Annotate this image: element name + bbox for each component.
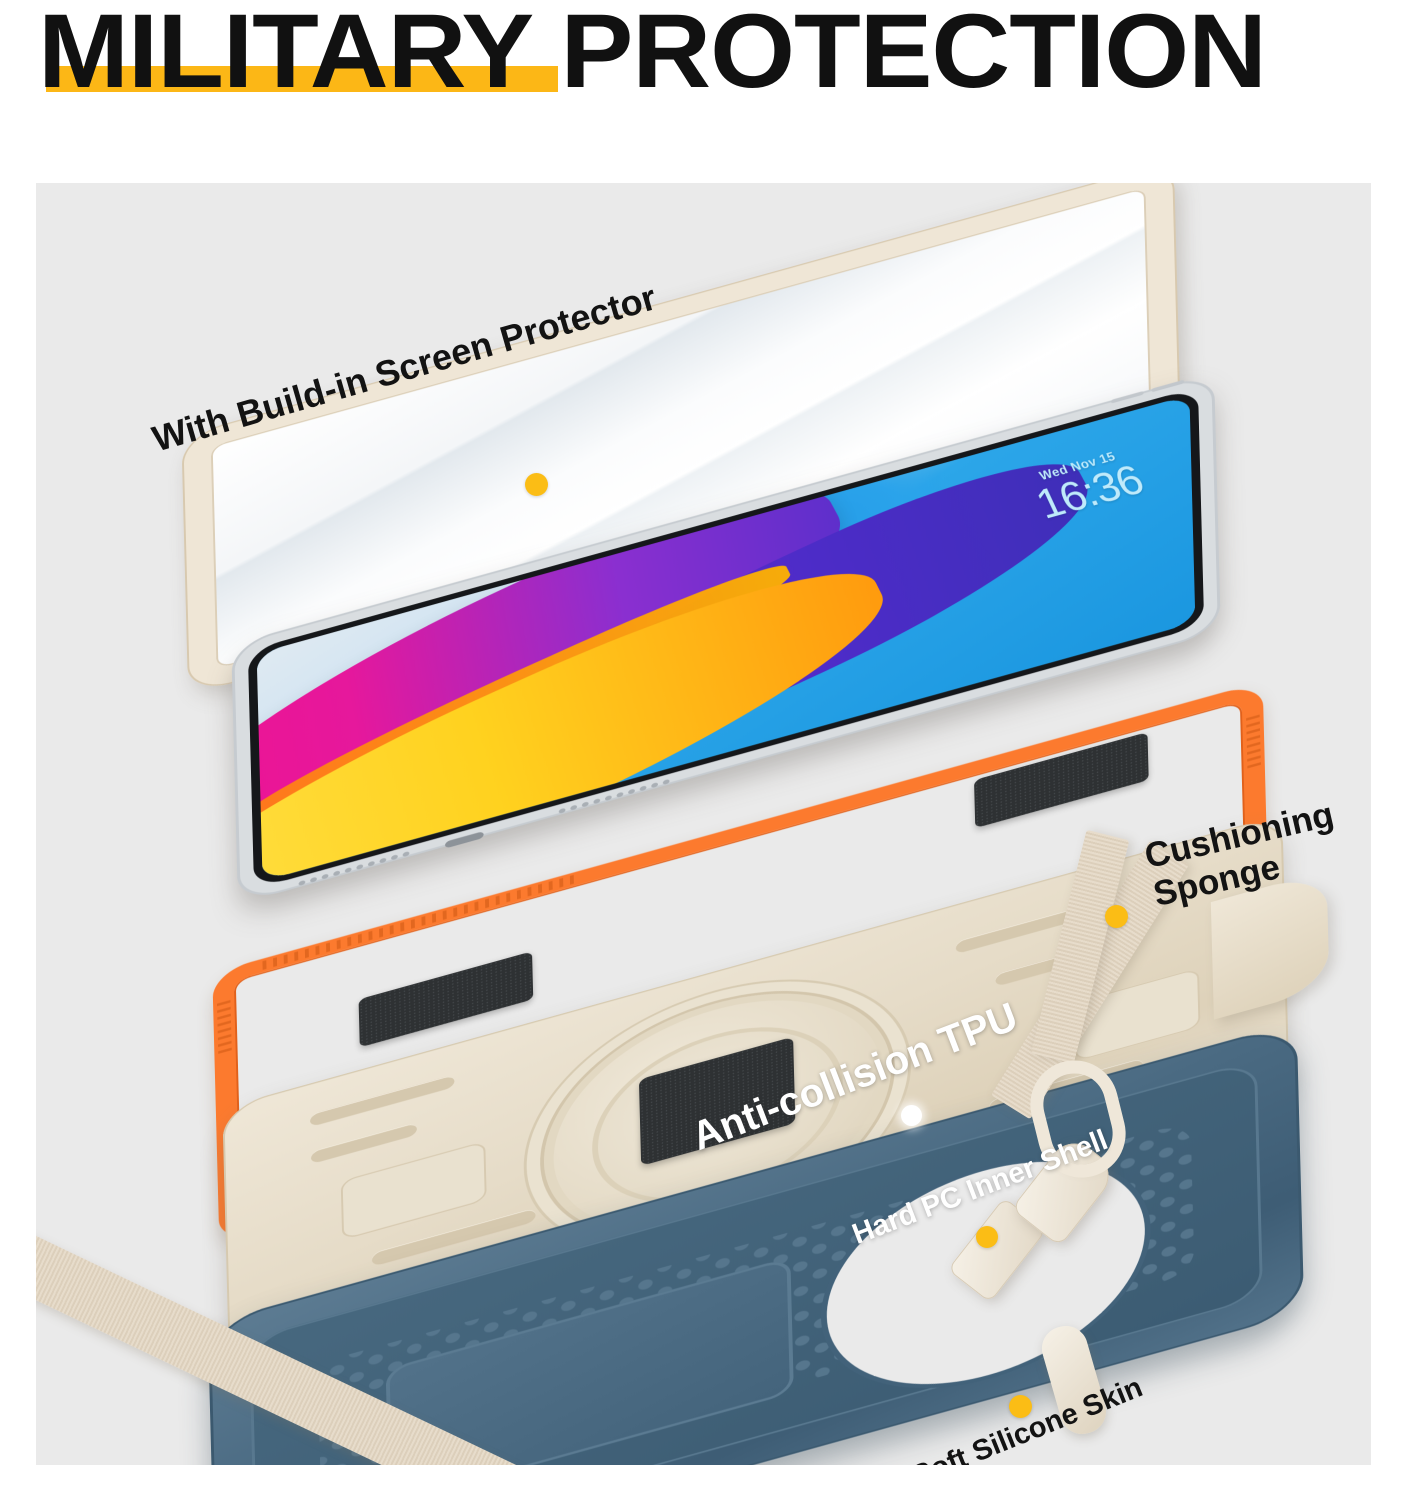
tpu-ribs bbox=[1246, 715, 1261, 769]
callout-marker-dot-cushioning-sponge bbox=[1105, 905, 1128, 928]
page-title: MILITARY PROTECTION bbox=[38, 0, 1407, 108]
callout-marker-dot-hard-pc-inner-shell bbox=[976, 1226, 998, 1248]
pc-vent-slot bbox=[310, 1075, 455, 1127]
product-exploded-view-stage: Wed Nov 15 16:36 bbox=[36, 183, 1371, 1465]
callout-marker-dot-screen-protector bbox=[525, 473, 548, 496]
infographic-root: MILITARY PROTECTION bbox=[0, 0, 1407, 1500]
tpu-ribs bbox=[217, 1000, 232, 1054]
shoulder-strap-left-run[interactable] bbox=[36, 1123, 846, 1465]
header: MILITARY PROTECTION bbox=[0, 0, 1407, 130]
callout-marker-dot-soft-silicone-skin bbox=[1009, 1395, 1032, 1418]
callout-marker-dot-anti-collision-tpu bbox=[901, 1105, 922, 1126]
strap-webbing bbox=[36, 1193, 849, 1465]
